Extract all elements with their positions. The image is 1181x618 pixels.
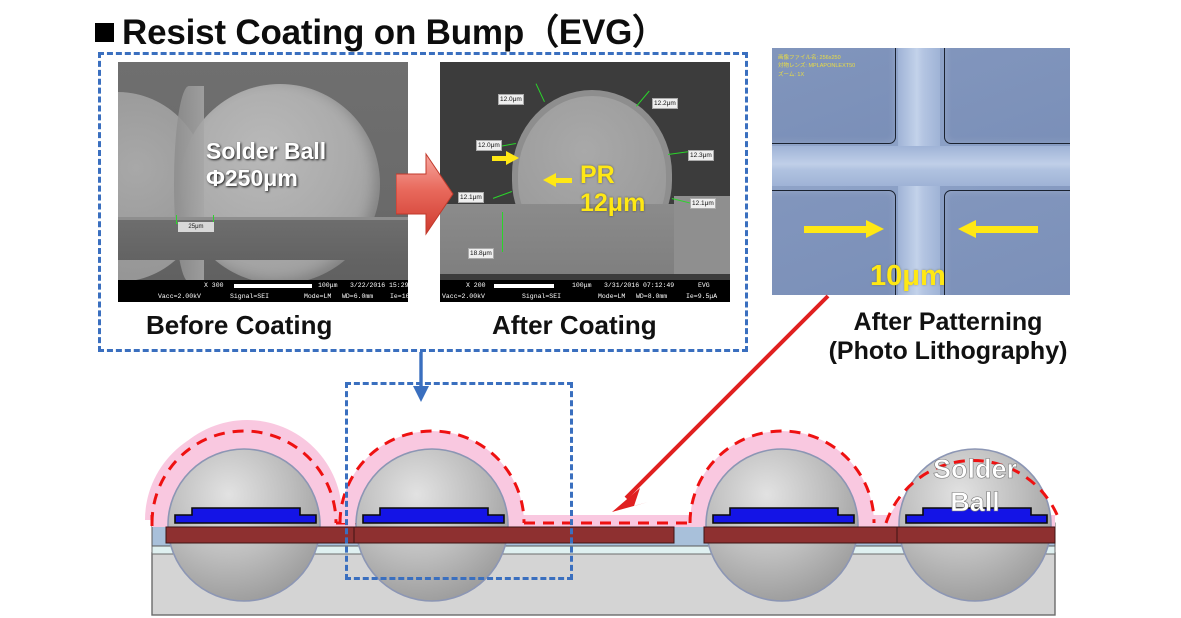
sem-image-after-coating: 12.0μm 12.2μm 12.0μm 12.3μm 12.1μm 12.1μ… (440, 62, 730, 302)
pr-thickness-annotation: PR 12μm (580, 162, 645, 217)
trench-width-label: 10μm (870, 260, 946, 293)
sem-after-scalebar (494, 284, 554, 288)
width-arrow-right-stem (976, 226, 1038, 233)
pr-arrow-2-stem (556, 178, 572, 183)
caption-patterning-line1: After Patterning (808, 308, 1088, 337)
measurement-label: 12.0μm (476, 140, 502, 151)
measurement-label: 12.1μm (690, 198, 716, 209)
pr-arrow-1-stem (492, 156, 506, 161)
sem-before-datetime: 3/22/2016 15:29:09 (350, 280, 408, 291)
patterning-pointer-arrow-icon (600, 290, 835, 520)
width-arrow-right-head (958, 220, 976, 238)
width-arrow-left-head (866, 220, 884, 238)
sem-before-scale-tick: 25μm (178, 222, 214, 232)
measurement-label: 12.1μm (458, 192, 484, 203)
solder-ball-diameter: Φ250μm (206, 165, 326, 192)
caption-patterning-line2: (Photo Lithography) (808, 337, 1088, 366)
sem-after-mag: X 200 (466, 280, 486, 291)
measurement-label: 12.3μm (688, 150, 714, 161)
ubm-pad (175, 508, 316, 523)
measurement-label: 18.8μm (468, 248, 494, 259)
pr-label: PR (580, 162, 645, 190)
pr-arrow-1-head (506, 151, 519, 165)
solder-ball (168, 449, 320, 601)
caption-before-coating: Before Coating (146, 310, 332, 341)
sem-before-mode: Mode=LM (304, 291, 331, 302)
solder-ball-label-line2: Ball (950, 487, 1000, 517)
sem-before-substrate (118, 218, 408, 260)
sem-after-scale: 100μm (572, 280, 592, 291)
sem-after-signal: Signal=SEI (522, 291, 561, 302)
cross-section-schematic: Solder Ball (0, 375, 1181, 618)
sem-before-signal: Signal=SEI (230, 291, 269, 302)
solder-ball-label-line1: Solder (933, 454, 1018, 484)
pr-thickness-value: 12μm (580, 190, 645, 218)
sem-before-scale: 100μm (318, 280, 338, 291)
sem-before-overlay-label: Solder Ball Φ250μm (206, 138, 326, 192)
pr-arrow-2-head (543, 173, 556, 187)
width-arrow-left-stem (804, 226, 866, 233)
sem-before-vacc: Vacc=2.00kV (158, 291, 201, 302)
trace-layer (897, 527, 1055, 543)
sem-before-ie: Ie=16.0 (390, 291, 408, 302)
sem-before-mag: X 300 (204, 280, 224, 291)
sem-after-vacc: Vacc=2.00kV (442, 291, 485, 302)
resist-pad (944, 190, 1070, 295)
magnified-region-box (345, 382, 573, 580)
title-bullet-icon (95, 23, 114, 42)
resist-pad (944, 48, 1070, 144)
trench-horizontal (772, 146, 1070, 186)
measurement-label: 12.2μm (652, 98, 678, 109)
measurement-label: 12.0μm (498, 94, 524, 105)
caption-after-patterning: After Patterning (Photo Lithography) (808, 308, 1088, 366)
page-title-text: Resist Coating on Bump（EVG） (122, 4, 667, 55)
sem-before-scalebar (234, 284, 312, 288)
optical-metadata-overlay: 画像ファイル名: 256x250 対物レンズ: MPLAPONLEXT50 ズー… (778, 54, 855, 79)
sem-before-footer: X 300 100μm 3/22/2016 15:29:09 EVG Vacc=… (118, 280, 408, 302)
process-flow-arrow-icon (396, 152, 454, 236)
solder-ball-text: Solder Ball (206, 138, 326, 165)
page-title: Resist Coating on Bump（EVG） (95, 4, 667, 55)
sem-before-surface-line (118, 217, 408, 220)
sem-before-wd: WD=6.0mm (342, 291, 373, 302)
sem-image-before-coating: 25μm Solder Ball Φ250μm X 300 100μm 3/22… (118, 62, 408, 302)
measure-line (502, 212, 503, 252)
optical-image-after-patterning: 画像ファイル名: 256x250 対物レンズ: MPLAPONLEXT50 ズー… (772, 48, 1070, 295)
